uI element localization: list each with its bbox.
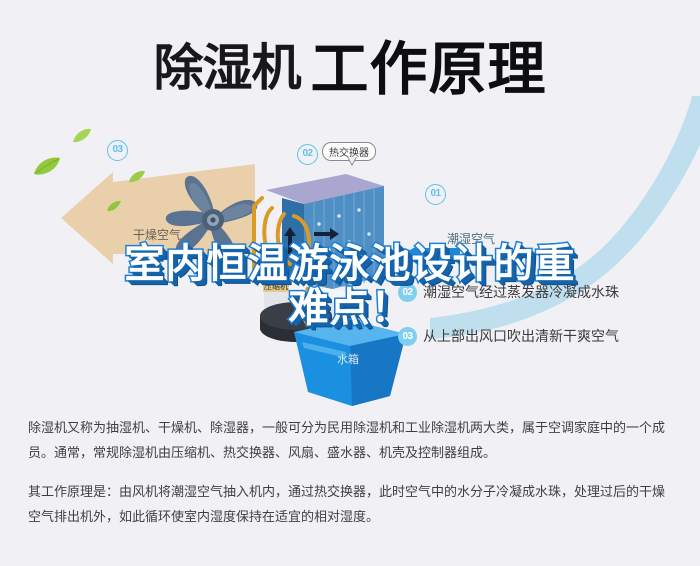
overlay-headline: 室内恒温游泳池设计的重 难点！	[0, 242, 700, 330]
callout-tail-icon	[347, 157, 357, 166]
leaf-icon-1	[32, 156, 62, 183]
label-water-tank: 水箱	[337, 351, 359, 367]
diagram-badge-03: 03	[107, 140, 128, 161]
leaf-icon-4	[106, 200, 122, 218]
leaf-icon-2	[72, 128, 92, 149]
page-title-part-1: 除湿机	[153, 40, 300, 96]
body-paragraph-2: 其工作原理是：由风机将潮湿空气抽入机内，通过热交换器，此时空气中的水分子冷凝成水…	[28, 479, 676, 529]
body-paragraph-1: 除湿机又称为抽湿机、干燥机、除湿器，一般可分为民用除湿机和工业除湿机两大类，属于…	[28, 415, 676, 465]
diagram-badge-02: 02	[297, 144, 318, 165]
label-dry-air: 干燥空气	[133, 226, 181, 243]
body-copy: 除湿机又称为抽湿机、干燥机、除湿器，一般可分为民用除湿机和工业除湿机两大类，属于…	[28, 415, 676, 529]
page-title: 除湿机工作原理	[0, 22, 700, 106]
poster-root: 除湿机工作原理	[0, 0, 700, 566]
page-title-part-2: 工作原理	[310, 37, 546, 102]
diagram-badge-01: 01	[425, 184, 446, 205]
leaf-icon-3	[128, 170, 146, 189]
